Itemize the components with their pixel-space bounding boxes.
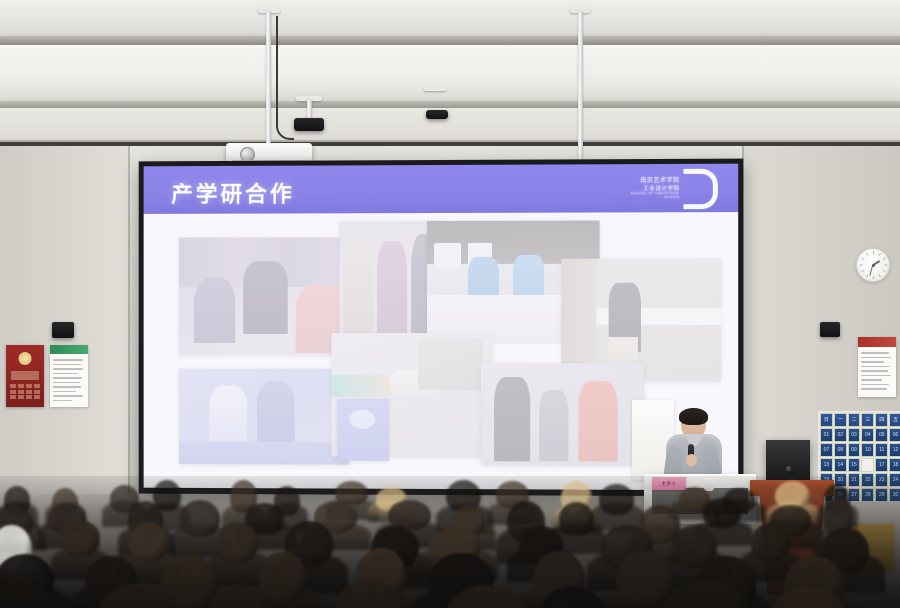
- presenter-hair: [679, 408, 708, 425]
- poster-right-header: [858, 337, 896, 347]
- notice-board-header-cell: 三: [861, 413, 874, 427]
- poster-red-grid: [10, 384, 40, 399]
- notice-board-cell[interactable]: 17: [875, 458, 888, 472]
- notice-board-cell[interactable]: 12: [889, 443, 900, 457]
- notice-board-cell[interactable]: 07: [820, 443, 833, 457]
- notice-board-cell[interactable]: 03: [848, 428, 861, 442]
- notice-board-cell[interactable]: 05: [875, 428, 888, 442]
- notice-board-header-cell: 一: [834, 413, 847, 427]
- upper-wall: [0, 108, 900, 142]
- notice-board-cell[interactable]: 11: [875, 443, 888, 457]
- slide-photo-blue-panel-detail: [337, 399, 389, 461]
- notice-board-cell[interactable]: [861, 458, 874, 472]
- notice-board-cell[interactable]: 04: [861, 428, 874, 442]
- notice-board-header-row: 日一二三四五: [820, 413, 900, 427]
- wall-speaker-right: [820, 322, 840, 337]
- notice-board-cell[interactable]: 06: [889, 428, 900, 442]
- audience: [0, 476, 900, 608]
- wall-speaker-left: [52, 322, 74, 338]
- poster-seal-icon: [19, 352, 32, 365]
- slide-title: 产学研合作: [171, 177, 295, 209]
- projector-cable: [276, 16, 294, 140]
- notice-board-cell[interactable]: 14: [834, 458, 847, 472]
- notice-board-cell[interactable]: 08: [834, 443, 847, 457]
- ceiling-beam-upper: [0, 36, 900, 45]
- audience-member-head: [129, 522, 168, 562]
- hanging-light-fixture: [294, 118, 324, 131]
- notice-board-header-cell: 日: [820, 413, 833, 427]
- ceiling-soffit: [0, 45, 900, 103]
- presenter-hand: [686, 454, 697, 466]
- audience-member-head: [259, 552, 307, 603]
- notice-board-cell[interactable]: 10: [861, 443, 874, 457]
- clock-center-pin: [872, 264, 875, 267]
- notice-board-header-cell: 四: [875, 413, 888, 427]
- audience-member-head: [703, 498, 740, 527]
- notice-board-cell[interactable]: 02: [834, 428, 847, 442]
- hanging-speaker-small: [426, 110, 448, 119]
- notice-board-cell[interactable]: 15: [848, 458, 861, 472]
- audience-member-head: [217, 522, 258, 563]
- lecture-hall-screenshot: 日一二三四五 010203040506070809101112131415171…: [0, 0, 900, 608]
- notice-board-header-cell: 二: [848, 413, 861, 427]
- audience-member-head: [61, 520, 98, 557]
- logo-line-3: SCHOOL OF INDUSTRIAL DESIGN: [617, 192, 680, 200]
- poster-green-lines: [53, 359, 86, 404]
- poster-right-lines: [861, 352, 894, 393]
- notice-board-cell[interactable]: 09: [848, 443, 861, 457]
- poster-green-header: [50, 345, 88, 354]
- audience-member-head: [616, 551, 673, 608]
- slide-photo-kids-craft-table-blue: [179, 369, 349, 465]
- wall-seam-left: [128, 146, 130, 498]
- logo-line-1: 南京艺术学院: [617, 178, 680, 185]
- fixture-mount-b: [424, 86, 446, 91]
- projector-lens-icon: [240, 147, 255, 162]
- school-logo-text: 南京艺术学院 工业设计学院 SCHOOL OF INDUSTRIAL DESIG…: [617, 178, 680, 199]
- mic-boom-pole: [578, 12, 583, 160]
- audience-member-head: [751, 523, 789, 561]
- notice-board-cell[interactable]: 13: [820, 458, 833, 472]
- logo-d-mark-icon: [684, 169, 718, 209]
- notice-board-header-cell: 五: [889, 413, 900, 427]
- audience-member-head: [180, 500, 220, 537]
- notice-board-cell[interactable]: 01: [820, 428, 833, 442]
- audience-member-head: [599, 484, 634, 515]
- wall-clock: [856, 248, 890, 282]
- slide-photo-visitors-viewing-exhibit: [481, 363, 644, 466]
- poster-red-honor: [6, 345, 44, 407]
- poster-red-band: [11, 371, 39, 380]
- poster-right-notice: [858, 337, 896, 397]
- notice-board-cell[interactable]: 18: [889, 458, 900, 472]
- audience-member-head: [559, 502, 594, 536]
- school-logo: 南京艺术学院 工业设计学院 SCHOOL OF INDUSTRIAL DESIG…: [617, 170, 718, 209]
- poster-green-notice: [50, 345, 88, 407]
- projector-pole: [266, 12, 271, 146]
